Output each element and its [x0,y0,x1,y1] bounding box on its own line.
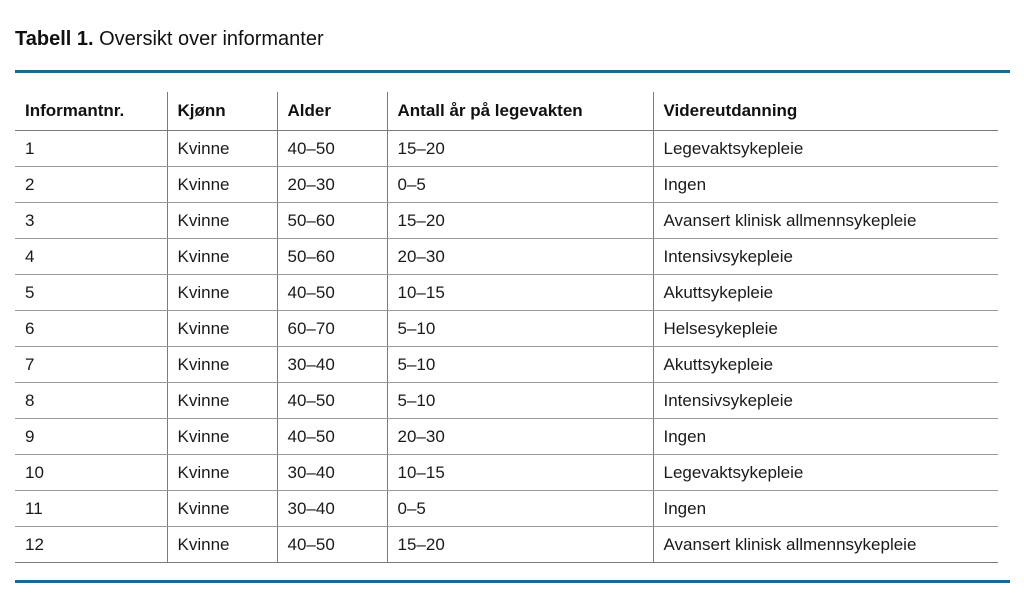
cell-videreutdanning: Avansert klinisk allmennsykepleie [653,527,998,563]
cell-informantnr: 6 [15,311,167,347]
cell-antall-ar: 5–10 [387,347,653,383]
table-row: 7 Kvinne 30–40 5–10 Akuttsykepleie [15,347,998,383]
bottom-rule [15,580,1010,583]
cell-informantnr: 11 [15,491,167,527]
cell-antall-ar: 5–10 [387,311,653,347]
table-row: 10 Kvinne 30–40 10–15 Legevaktsykepleie [15,455,998,491]
table-row: 1 Kvinne 40–50 15–20 Legevaktsykepleie [15,131,998,167]
cell-antall-ar: 0–5 [387,167,653,203]
column-header-kjonn: Kjønn [167,92,277,131]
cell-antall-ar: 20–30 [387,419,653,455]
cell-alder: 30–40 [277,491,387,527]
table-body: 1 Kvinne 40–50 15–20 Legevaktsykepleie 2… [15,131,998,563]
cell-informantnr: 9 [15,419,167,455]
table-header: Informantnr. Kjønn Alder Antall år på le… [15,92,998,131]
cell-antall-ar: 10–15 [387,455,653,491]
table-row: 5 Kvinne 40–50 10–15 Akuttsykepleie [15,275,998,311]
informants-table-container: Informantnr. Kjønn Alder Antall år på le… [15,92,998,563]
table-row: 8 Kvinne 40–50 5–10 Intensivsykepleie [15,383,998,419]
table-row: 2 Kvinne 20–30 0–5 Ingen [15,167,998,203]
cell-videreutdanning: Helsesykepleie [653,311,998,347]
cell-kjonn: Kvinne [167,527,277,563]
cell-antall-ar: 10–15 [387,275,653,311]
cell-alder: 60–70 [277,311,387,347]
table-row: 9 Kvinne 40–50 20–30 Ingen [15,419,998,455]
top-rule [15,70,1010,73]
cell-alder: 20–30 [277,167,387,203]
cell-antall-ar: 15–20 [387,203,653,239]
cell-informantnr: 12 [15,527,167,563]
cell-alder: 50–60 [277,203,387,239]
cell-kjonn: Kvinne [167,419,277,455]
cell-antall-ar: 20–30 [387,239,653,275]
cell-informantnr: 1 [15,131,167,167]
cell-videreutdanning: Ingen [653,491,998,527]
cell-videreutdanning: Intensivsykepleie [653,239,998,275]
cell-kjonn: Kvinne [167,311,277,347]
cell-kjonn: Kvinne [167,455,277,491]
cell-alder: 30–40 [277,455,387,491]
table-caption: Tabell 1. Oversikt over informanter [15,26,324,52]
cell-alder: 30–40 [277,347,387,383]
cell-alder: 40–50 [277,383,387,419]
cell-alder: 50–60 [277,239,387,275]
cell-informantnr: 7 [15,347,167,383]
cell-videreutdanning: Legevaktsykepleie [653,455,998,491]
cell-videreutdanning: Akuttsykepleie [653,347,998,383]
cell-alder: 40–50 [277,131,387,167]
cell-informantnr: 2 [15,167,167,203]
cell-antall-ar: 15–20 [387,527,653,563]
table-row: 11 Kvinne 30–40 0–5 Ingen [15,491,998,527]
column-header-antall-ar: Antall år på legevakten [387,92,653,131]
cell-informantnr: 8 [15,383,167,419]
table-row: 4 Kvinne 50–60 20–30 Intensivsykepleie [15,239,998,275]
column-header-alder: Alder [277,92,387,131]
column-header-informantnr: Informantnr. [15,92,167,131]
cell-kjonn: Kvinne [167,131,277,167]
table-row: 3 Kvinne 50–60 15–20 Avansert klinisk al… [15,203,998,239]
table-caption-label: Tabell 1. [15,28,94,50]
cell-videreutdanning: Avansert klinisk allmennsykepleie [653,203,998,239]
cell-antall-ar: 15–20 [387,131,653,167]
table-header-row: Informantnr. Kjønn Alder Antall år på le… [15,92,998,131]
cell-kjonn: Kvinne [167,239,277,275]
cell-antall-ar: 5–10 [387,383,653,419]
cell-informantnr: 5 [15,275,167,311]
table-figure-page: Tabell 1. Oversikt over informanter Info… [0,0,1024,600]
cell-videreutdanning: Akuttsykepleie [653,275,998,311]
cell-antall-ar: 0–5 [387,491,653,527]
cell-kjonn: Kvinne [167,203,277,239]
cell-videreutdanning: Ingen [653,419,998,455]
cell-alder: 40–50 [277,275,387,311]
cell-informantnr: 3 [15,203,167,239]
table-caption-text: Oversikt over informanter [94,28,324,50]
cell-alder: 40–50 [277,527,387,563]
cell-alder: 40–50 [277,419,387,455]
cell-videreutdanning: Intensivsykepleie [653,383,998,419]
cell-kjonn: Kvinne [167,491,277,527]
informants-table: Informantnr. Kjønn Alder Antall år på le… [15,92,998,563]
column-header-videreutdanning: Videreutdanning [653,92,998,131]
cell-kjonn: Kvinne [167,383,277,419]
table-row: 12 Kvinne 40–50 15–20 Avansert klinisk a… [15,527,998,563]
table-row: 6 Kvinne 60–70 5–10 Helsesykepleie [15,311,998,347]
cell-videreutdanning: Legevaktsykepleie [653,131,998,167]
cell-kjonn: Kvinne [167,347,277,383]
cell-informantnr: 10 [15,455,167,491]
cell-kjonn: Kvinne [167,275,277,311]
cell-videreutdanning: Ingen [653,167,998,203]
cell-informantnr: 4 [15,239,167,275]
cell-kjonn: Kvinne [167,167,277,203]
